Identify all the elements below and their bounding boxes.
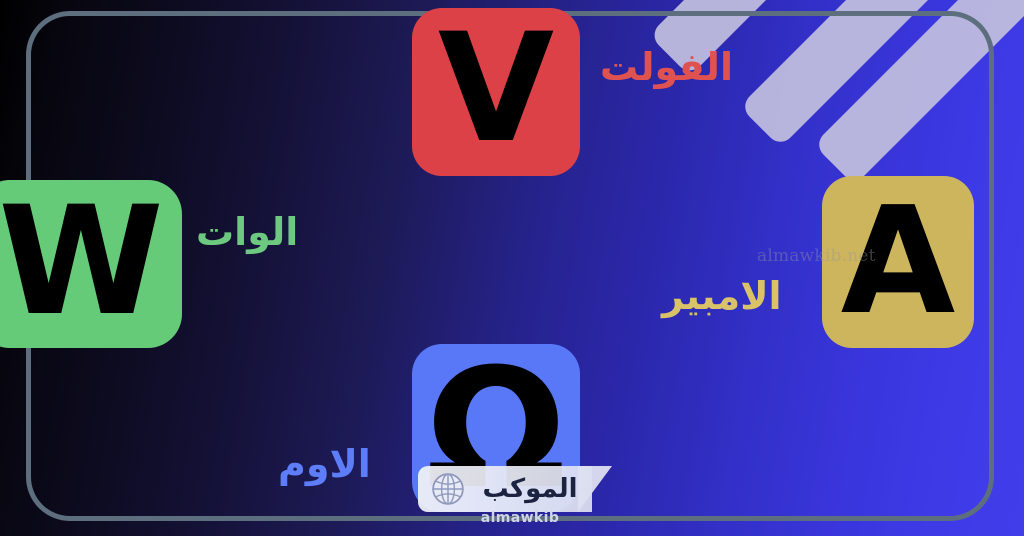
site-logo-badge: الموكب almawkib: [418, 466, 614, 512]
logo-latin-name: almawkib: [452, 510, 588, 526]
logo-arabic-name: الموكب: [474, 473, 586, 505]
unit-tile-watt: W: [0, 180, 182, 348]
unit-label-ohm: الاوم: [278, 445, 371, 483]
unit-label-watt: الوات: [196, 213, 298, 251]
site-watermark-text: almawkib.net: [757, 246, 876, 266]
unit-label-volt: الفولت: [600, 48, 733, 86]
letter-v-icon: V: [438, 14, 554, 164]
infographic-canvas: V الفولت W الوات A الامبير Ω الاوم almaw…: [0, 0, 1024, 536]
unit-tile-volt: V: [412, 8, 580, 176]
unit-label-ampere: الامبير: [662, 277, 782, 315]
globe-icon: [431, 472, 465, 506]
letter-w-icon: W: [0, 187, 160, 337]
